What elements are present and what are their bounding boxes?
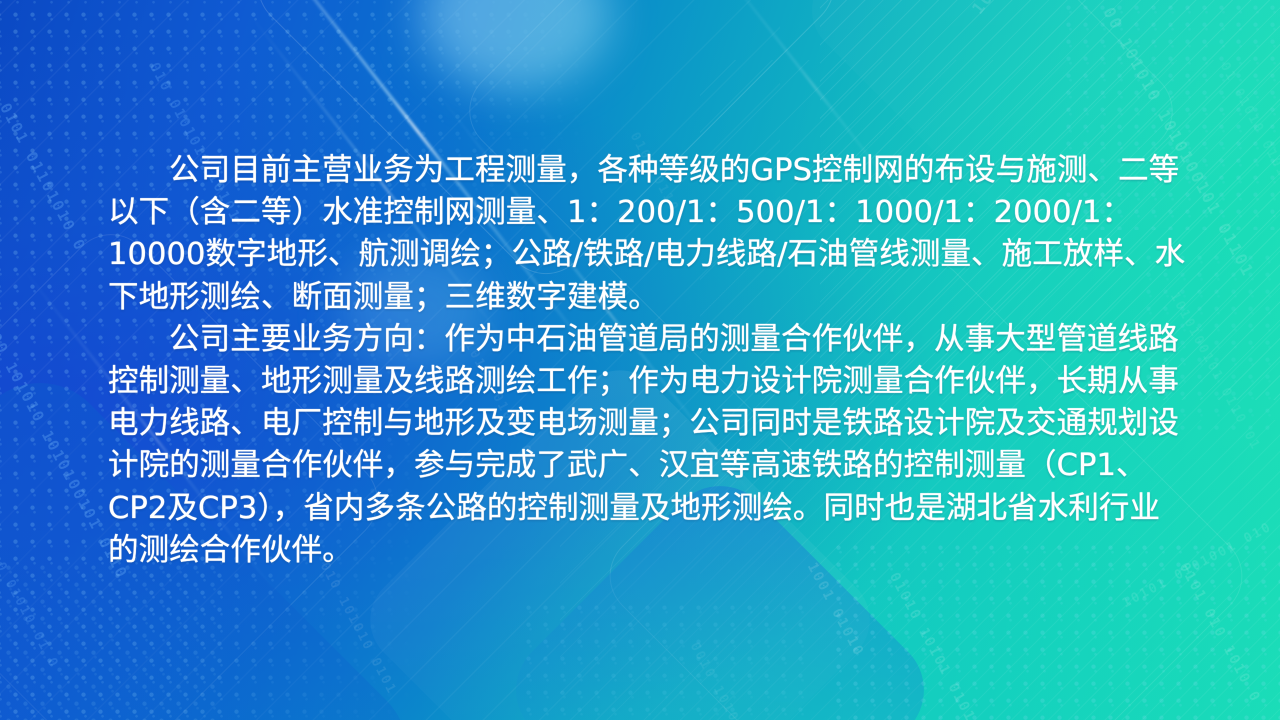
paragraph-business-scope: 公司目前主营业务为工程测量，各种等级的GPS控制网的布设与施测、二等以下（含二等… <box>108 150 1188 319</box>
dot-pattern-bottom-center <box>520 600 810 720</box>
paragraph-business-direction: 公司主要业务方向：作为中石油管道局的测量合作伙伴，从事大型管道线路控制测量、地形… <box>108 319 1188 572</box>
slide-canvas: 0101 01101010 0 010 0101010 10101 00 101… <box>0 0 1280 720</box>
slide-body-text: 公司目前主营业务为工程测量，各种等级的GPS控制网的布设与施测、二等以下（含二等… <box>108 150 1188 572</box>
